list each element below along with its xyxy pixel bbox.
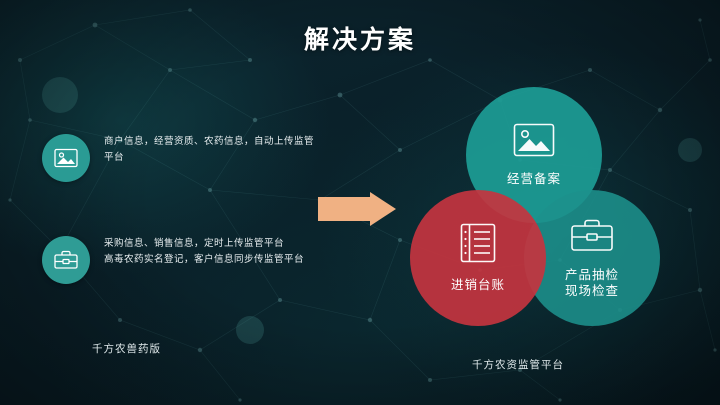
page-title: 解决方案	[0, 20, 720, 56]
left-item-2: 采购信息、销售信息，定时上传监管平台 高毒农药实名登记，客户信息同步传监管平台	[42, 236, 304, 284]
venn-circle-ledger[interactable]: 进销台账	[410, 190, 546, 326]
venn-top-label: 经营备案	[507, 172, 561, 188]
venn-left-label: 进销台账	[451, 278, 505, 294]
left-item-1-line-2: 平台	[104, 150, 314, 166]
left-item-1-line-1: 商户信息，经营资质、农药信息，自动上传监管	[104, 134, 314, 150]
venn-right-label-line-2: 现场检查	[565, 284, 619, 300]
image-icon	[513, 123, 555, 162]
left-item-2-line-2: 高毒农药实名登记，客户信息同步传监管平台	[104, 252, 304, 268]
venn-right-label-line-1: 产品抽检	[565, 268, 619, 284]
caption-left: 千方农兽药版	[92, 341, 161, 356]
left-item-1-text: 商户信息，经营资质、农药信息，自动上传监管 平台	[104, 134, 314, 166]
ledger-icon	[460, 223, 496, 268]
image-icon	[42, 134, 90, 182]
caption-right: 千方农资监管平台	[472, 357, 564, 372]
right-arrow-icon	[318, 192, 396, 226]
toolbox-icon	[570, 217, 614, 258]
left-item-2-line-1: 采购信息、销售信息，定时上传监管平台	[104, 236, 304, 252]
left-item-1: 商户信息，经营资质、农药信息，自动上传监管 平台	[42, 134, 314, 182]
left-item-2-text: 采购信息、销售信息，定时上传监管平台 高毒农药实名登记，客户信息同步传监管平台	[104, 236, 304, 268]
toolbox-icon	[42, 236, 90, 284]
slide-root: 解决方案 商户信息，经营资质、农药信息，自动上传监管 平台 采购信息、销售信息	[0, 0, 720, 405]
